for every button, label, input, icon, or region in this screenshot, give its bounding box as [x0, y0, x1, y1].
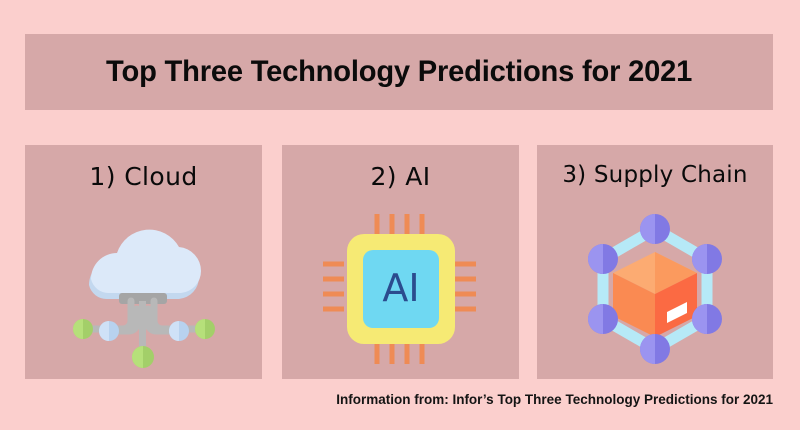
panel-cloud-icon-area [25, 203, 262, 375]
panel-supply-chain-icon-area [537, 203, 773, 375]
panel-supply-chain-heading: 3) Supply Chain [537, 162, 773, 188]
title-banner: Top Three Technology Predictions for 202… [25, 34, 773, 110]
infographic-canvas: Top Three Technology Predictions for 202… [0, 0, 800, 430]
chip-pins-right [455, 264, 476, 309]
ai-chip-icon: AI [321, 208, 481, 370]
hexagon-node-upper-left [588, 244, 618, 274]
hexagon-node-top [640, 214, 670, 244]
hexagon-node-upper-right [692, 244, 722, 274]
shipping-box [613, 252, 697, 337]
cloud-node-blue-left [99, 321, 119, 341]
cloud-node-green-right [195, 319, 215, 339]
chip-label: AI [382, 266, 419, 310]
source-note: Information from: Infor’s Top Three Tech… [0, 392, 773, 407]
cloud-node-green-left [73, 319, 93, 339]
hexagon-node-lower-right [692, 304, 722, 334]
panel-ai-heading: 2) AI [282, 162, 519, 191]
cloud-network-icon [59, 209, 229, 369]
chip-pins-left [323, 264, 344, 309]
page-title: Top Three Technology Predictions for 202… [106, 55, 692, 89]
panel-ai: 2) AI [282, 145, 519, 379]
chip-pins-top [377, 214, 422, 235]
panel-ai-icon-area: AI [282, 203, 519, 375]
supply-chain-hexagon-icon [575, 209, 735, 369]
chip-pins-bottom [377, 343, 422, 364]
cloud-node-green-bottom [132, 346, 154, 368]
hexagon-node-bottom [640, 334, 670, 364]
panel-supply-chain: 3) Supply Chain [537, 145, 773, 379]
cloud-node-blue-right [169, 321, 189, 341]
panel-cloud-heading: 1) Cloud [25, 162, 262, 191]
hexagon-node-lower-left [588, 304, 618, 334]
panel-cloud: 1) Cloud [25, 145, 262, 379]
